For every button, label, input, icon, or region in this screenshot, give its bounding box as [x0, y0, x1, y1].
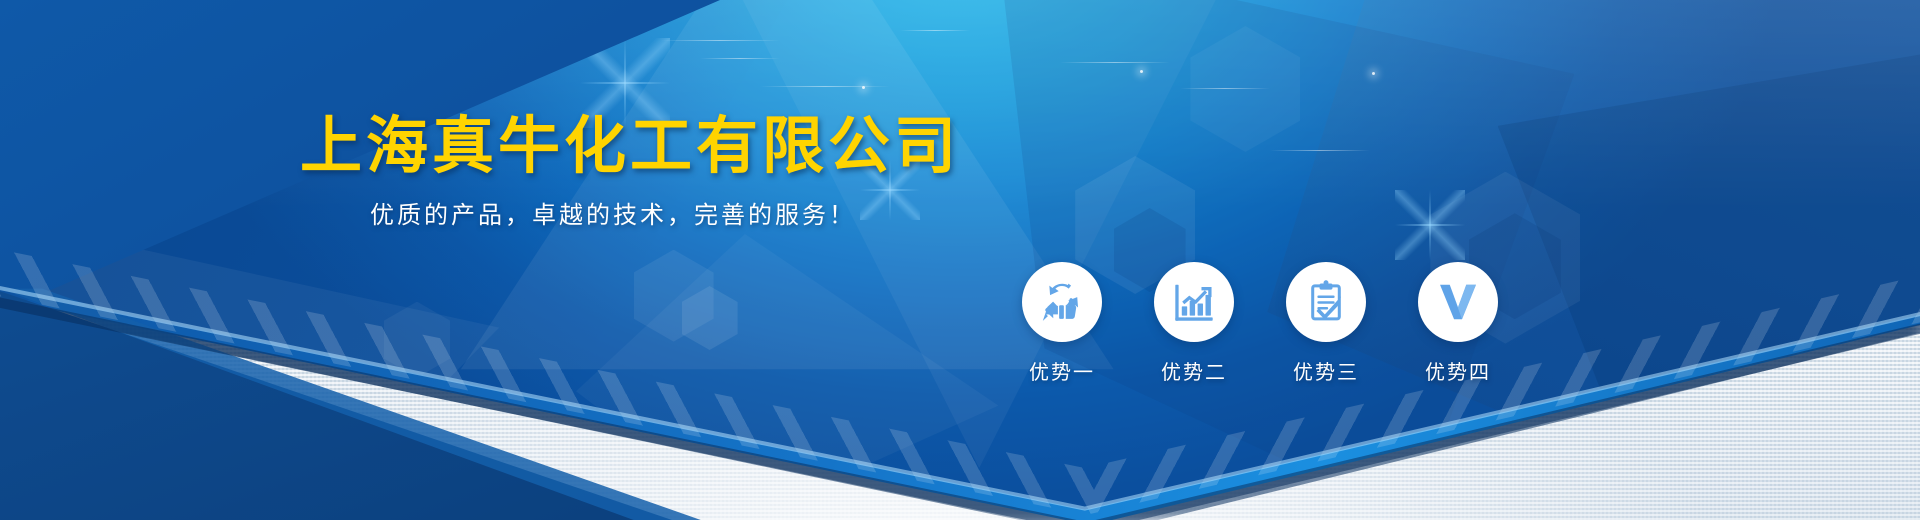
company-title: 上海真牛化工有限公司 [300, 95, 960, 185]
advantage-item-1[interactable]: 优势一 [1022, 262, 1102, 385]
advantages-row: 优势一 优势二 [1022, 262, 1498, 385]
tech-line-7 [1270, 150, 1370, 151]
tech-line-1 [660, 40, 780, 41]
tech-line-6 [760, 86, 890, 87]
sparkle-2 [1140, 70, 1143, 73]
clipboard-check-icon [1303, 279, 1349, 325]
advantage-label-2: 优势二 [1154, 356, 1234, 385]
advantage-icon-disc-3 [1286, 262, 1366, 342]
company-hero-banner: 上海真牛化工有限公司 优质的产品，卓越的技术，完善的服务！ 优势一 [0, 0, 1920, 520]
advantage-label-4: 优势四 [1418, 356, 1498, 385]
advantage-item-3[interactable]: 优势三 [1286, 262, 1366, 385]
sparkle-4 [1372, 72, 1375, 75]
advantage-icon-disc-2 [1154, 262, 1234, 342]
advantage-label-1: 优势一 [1022, 356, 1102, 385]
company-slogan: 优质的产品，卓越的技术，完善的服务！ [370, 195, 856, 230]
tech-line-3 [900, 30, 970, 31]
advantage-item-4[interactable]: 优势四 [1418, 262, 1498, 385]
advantage-icon-disc-1 [1022, 262, 1102, 342]
refresh-thumbs-up-icon [1039, 279, 1085, 325]
v-check-icon [1435, 279, 1481, 325]
tech-line-4 [1060, 62, 1170, 63]
advantage-label-3: 优势三 [1286, 356, 1366, 385]
tech-line-5 [1180, 88, 1270, 89]
bar-chart-growth-icon [1171, 279, 1217, 325]
advantage-item-2[interactable]: 优势二 [1154, 262, 1234, 385]
advantage-icon-disc-4 [1418, 262, 1498, 342]
starburst-3 [1395, 190, 1465, 260]
sparkle-1 [862, 86, 865, 89]
tech-line-2 [700, 58, 780, 59]
